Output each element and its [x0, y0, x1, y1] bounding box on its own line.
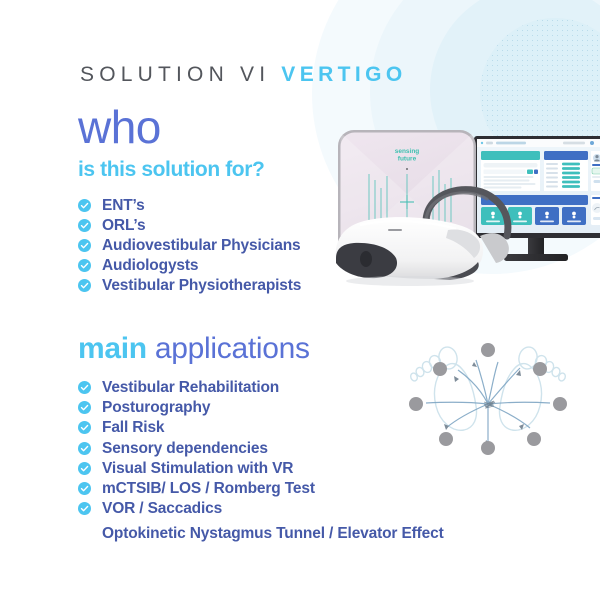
check-circle-icon — [78, 462, 91, 475]
list-item: VOR / Saccadics — [78, 499, 315, 518]
list-item-label: Sensory dependencies — [102, 439, 268, 458]
who-list: ENT’s ORL’s Audiovestibular Physicians A… — [78, 196, 301, 296]
list-item-label: Audiologysts — [102, 256, 198, 275]
check-circle-icon — [78, 199, 91, 212]
list-item: Audiovestibular Physicians — [78, 236, 301, 255]
who-heading-word: who — [78, 104, 161, 150]
list-item-label: Vestibular Rehabilitation — [102, 378, 279, 397]
list-item-label: ENT’s — [102, 196, 145, 215]
list-item: Vestibular Rehabilitation — [78, 378, 315, 397]
applications-heading-bold: main — [78, 332, 147, 365]
list-item: Vestibular Physiotherapists — [78, 276, 301, 295]
list-item-label: ORL’s — [102, 216, 145, 235]
force-plate-logo-line2: future — [398, 156, 417, 163]
list-item: Sensory dependencies — [78, 439, 315, 458]
check-circle-icon — [78, 482, 91, 495]
check-circle-icon — [78, 502, 91, 515]
product-photo-group: sensing future — [330, 118, 600, 300]
slide-kicker: SOLUTION VI VERTIGO — [80, 63, 407, 87]
check-circle-icon — [78, 401, 91, 414]
force-plate-logo-line1: sensing — [395, 148, 420, 155]
limits-of-stability-diagram-icon — [388, 336, 588, 456]
list-item-label: mCTSIB/ LOS / Romberg Test — [102, 479, 315, 498]
list-item: mCTSIB/ LOS / Romberg Test — [78, 479, 315, 498]
list-item-label: Posturography — [102, 398, 210, 417]
applications-heading: main applications — [78, 332, 310, 366]
check-circle-icon — [78, 219, 91, 232]
list-item-label: Fall Risk — [102, 418, 164, 437]
list-item: Fall Risk — [78, 418, 315, 437]
check-circle-icon — [78, 421, 91, 434]
check-circle-icon — [78, 381, 91, 394]
list-item: ENT’s — [78, 196, 301, 215]
list-item-label: Vestibular Physiotherapists — [102, 276, 301, 295]
check-circle-icon — [78, 442, 91, 455]
check-circle-icon — [78, 259, 91, 272]
kicker-prefix: SOLUTION VI — [80, 63, 270, 86]
applications-continuation-line: Optokinetic Nystagmus Tunnel / Elevator … — [102, 524, 444, 543]
list-item-label: VOR / Saccadics — [102, 499, 222, 518]
check-circle-icon — [78, 279, 91, 292]
list-item: Posturography — [78, 398, 315, 417]
applications-heading-light: applications — [155, 332, 310, 365]
applications-list: Vestibular Rehabilitation Posturography … — [78, 378, 315, 519]
who-heading-subtitle: is this solution for? — [78, 158, 264, 182]
list-item: Audiologysts — [78, 256, 301, 275]
check-circle-icon — [78, 239, 91, 252]
list-item-label: Visual Stimulation with VR — [102, 459, 293, 478]
list-item-label: Audiovestibular Physicians — [102, 236, 301, 255]
slide-canvas: SOLUTION VI VERTIGO who is this solution… — [0, 0, 600, 600]
list-item: Visual Stimulation with VR — [78, 459, 315, 478]
list-item: ORL’s — [78, 216, 301, 235]
kicker-accent: VERTIGO — [281, 63, 406, 86]
